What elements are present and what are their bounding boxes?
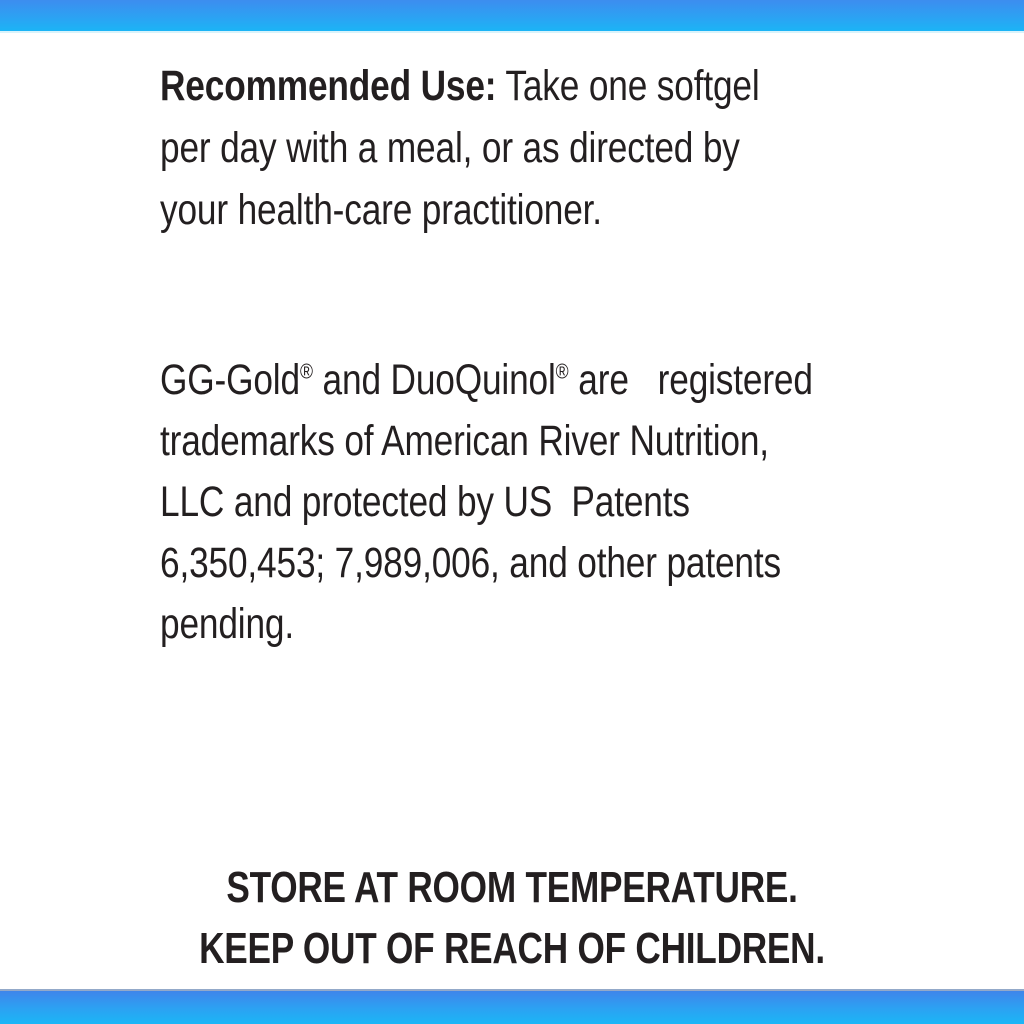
trademark-line-2: trademarks of American River Nutrition, — [160, 411, 882, 472]
top-blue-bar — [0, 0, 1024, 33]
bottom-blue-bar — [0, 989, 1024, 1024]
storage-warning-line-2: KEEP OUT OF REACH OF CHILDREN. — [102, 918, 921, 979]
recommended-use-line-1: Recommended Use: Take one softgel — [160, 55, 865, 117]
brand-name-duoquinol-prefix: and DuoQuinol — [313, 356, 556, 404]
recommended-use-line-3: your health-care practitioner. — [160, 179, 865, 241]
registered-mark-icon: ® — [556, 360, 569, 384]
trademark-line-1: GG-Gold® and DuoQuinol® are registered — [160, 350, 882, 411]
supplement-label-panel: Recommended Use: Take one softgel per da… — [0, 0, 1024, 1024]
trademark-paragraph: GG-Gold® and DuoQuinol® are registered t… — [160, 350, 882, 655]
registered-mark-icon: ® — [300, 360, 313, 384]
label-text-content: Recommended Use: Take one softgel per da… — [0, 33, 1024, 989]
recommended-use-heading: Recommended Use: — [160, 62, 496, 110]
storage-warning-line-1: STORE AT ROOM TEMPERATURE. — [102, 857, 921, 918]
trademark-line-3: LLC and protected by US Patents — [160, 472, 882, 533]
trademark-line-1-tail: are registered — [569, 356, 813, 404]
recommended-use-line-2: per day with a meal, or as directed by — [160, 117, 865, 179]
brand-name-gg-gold: GG-Gold — [160, 356, 300, 404]
trademark-line-5: pending. — [160, 594, 882, 655]
storage-warning-block: STORE AT ROOM TEMPERATURE. KEEP OUT OF R… — [0, 857, 1024, 979]
recommended-use-line-1-rest: Take one softgel — [496, 62, 759, 110]
patent-numbers-line: 6,350,453; 7,989,006, and other patents — [160, 533, 882, 594]
recommended-use-paragraph: Recommended Use: Take one softgel per da… — [160, 55, 865, 241]
